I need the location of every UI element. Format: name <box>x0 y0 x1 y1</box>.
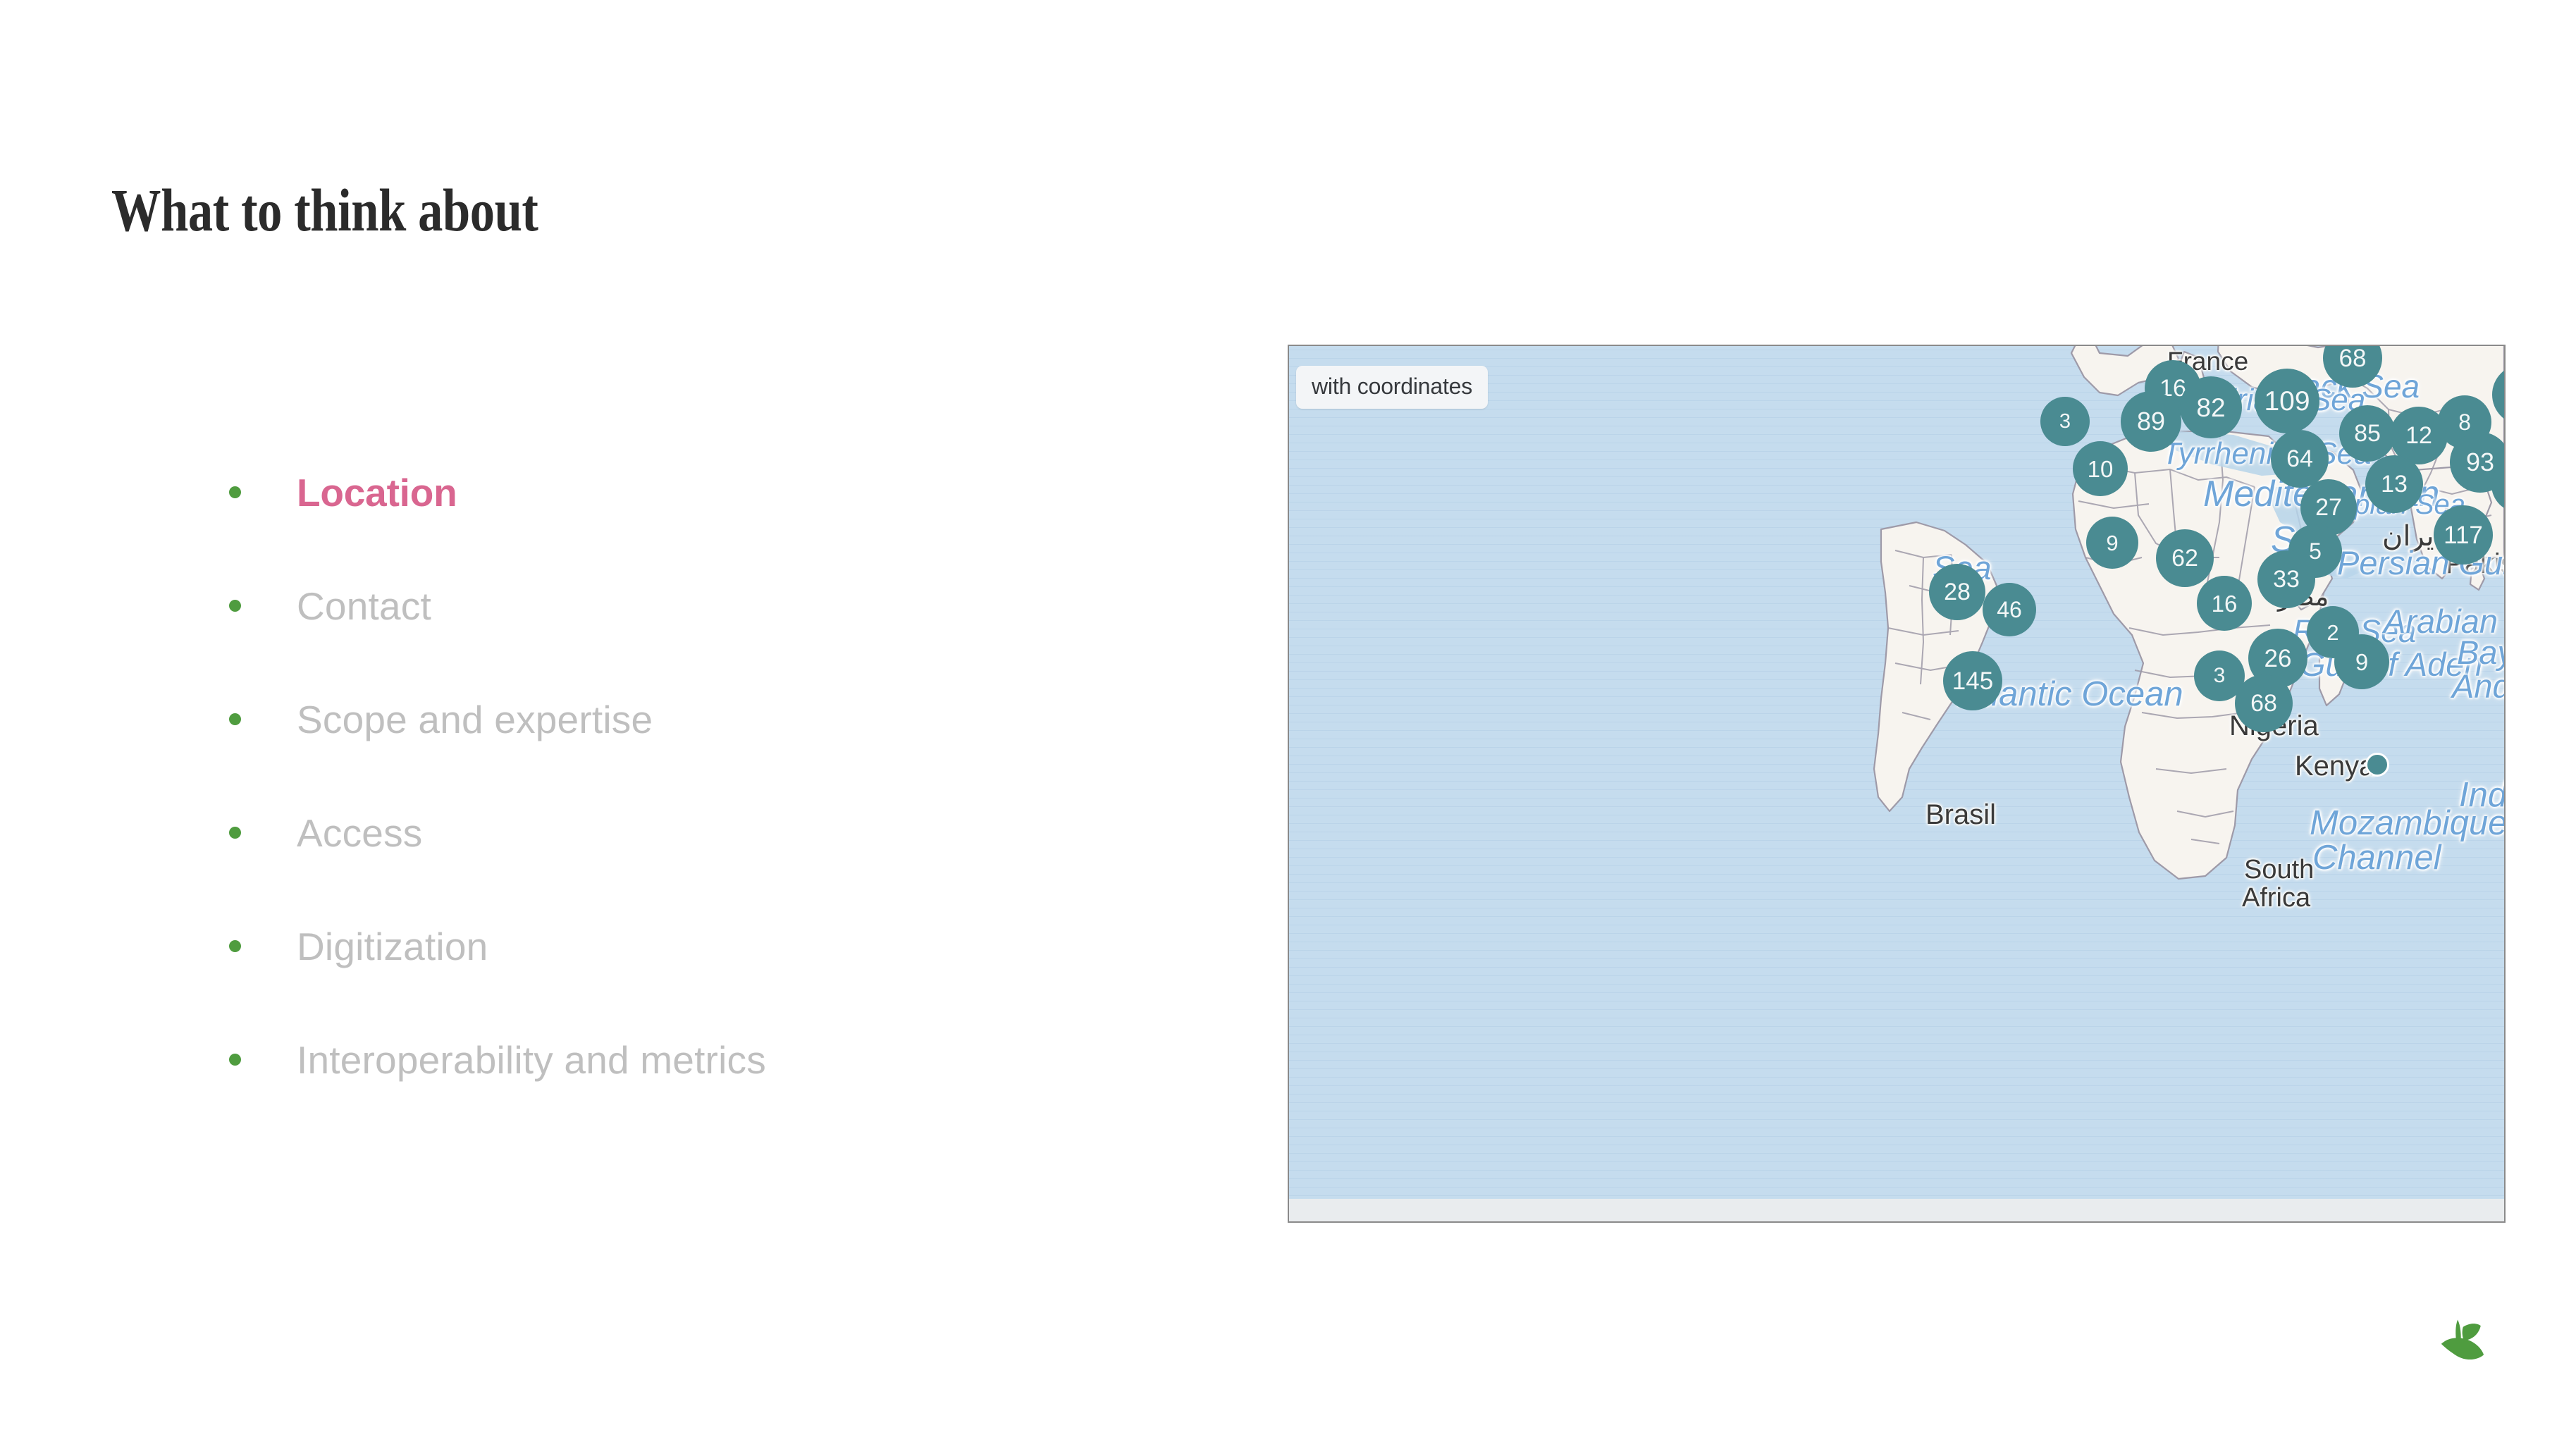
bullet-dot-icon <box>229 1054 241 1066</box>
bullet-item-contact[interactable]: Contact <box>229 587 1110 701</box>
map-cluster-marker[interactable]: 64 <box>2271 430 2329 488</box>
page-title: What to think about <box>111 175 538 245</box>
map-cluster-marker[interactable]: 145 <box>1943 651 2002 710</box>
bullet-item-label: Digitization <box>297 927 488 966</box>
bullet-item-label: Interoperability and metrics <box>297 1041 766 1080</box>
map-cluster-marker[interactable]: 117 <box>2434 505 2493 565</box>
seedling-logo-icon <box>2436 1309 2497 1369</box>
map-cluster-marker[interactable]: 9 <box>2334 634 2389 689</box>
bullet-item-label: Scope and expertise <box>297 701 653 739</box>
bullet-item-label: Contact <box>297 587 431 626</box>
map-cluster-marker[interactable]: 89 <box>2121 391 2181 452</box>
bullet-item-label: Access <box>297 814 422 853</box>
bullet-dot-icon <box>229 940 241 952</box>
map-cluster-marker[interactable]: 46 <box>1983 583 2036 636</box>
map-cluster-marker[interactable]: 85 <box>2339 405 2396 462</box>
map-attribution-strip <box>1289 1199 2504 1221</box>
map-cluster-marker[interactable]: 82 <box>2180 376 2242 438</box>
map-single-marker[interactable] <box>2365 753 2389 777</box>
map-cluster-marker[interactable]: 13 <box>2365 455 2423 513</box>
map-cluster-marker[interactable]: 16 <box>2197 576 2252 631</box>
map-widget[interactable]: with coordinates FranceBlack SeaAdriatic… <box>1288 345 2506 1223</box>
map-cluster-marker[interactable]: 9 <box>2086 517 2138 569</box>
bullet-item-label: Location <box>297 474 457 512</box>
map-cluster-marker[interactable]: 3 <box>2040 397 2090 446</box>
bullet-item-location[interactable]: Location <box>229 474 1110 587</box>
bullet-item-digitization[interactable]: Digitization <box>229 927 1110 1041</box>
bullet-dot-icon <box>229 827 241 839</box>
map-cluster-marker[interactable]: 33 <box>2257 550 2315 608</box>
map-cluster-marker[interactable]: 62 <box>2156 529 2214 587</box>
bullet-item-interoperability-and-metrics[interactable]: Interoperability and metrics <box>229 1041 1110 1154</box>
with-coordinates-badge[interactable]: with coordinates <box>1296 366 1488 409</box>
map-cluster-marker[interactable]: 28 <box>1929 564 1985 620</box>
bullet-dot-icon <box>229 600 241 612</box>
map-cluster-marker[interactable]: 10 <box>2073 441 2128 496</box>
map-cluster-marker[interactable]: 109 <box>2255 369 2319 433</box>
bullet-item-access[interactable]: Access <box>229 814 1110 927</box>
map-cluster-marker[interactable]: 68 <box>2235 674 2293 732</box>
bullet-dot-icon <box>229 713 241 725</box>
bullet-dot-icon <box>229 486 241 498</box>
bullet-list: LocationContactScope and expertiseAccess… <box>229 474 1110 1154</box>
map-canvas[interactable]: with coordinates FranceBlack SeaAdriatic… <box>1289 346 2504 1199</box>
bullet-item-scope-and-expertise[interactable]: Scope and expertise <box>229 701 1110 814</box>
